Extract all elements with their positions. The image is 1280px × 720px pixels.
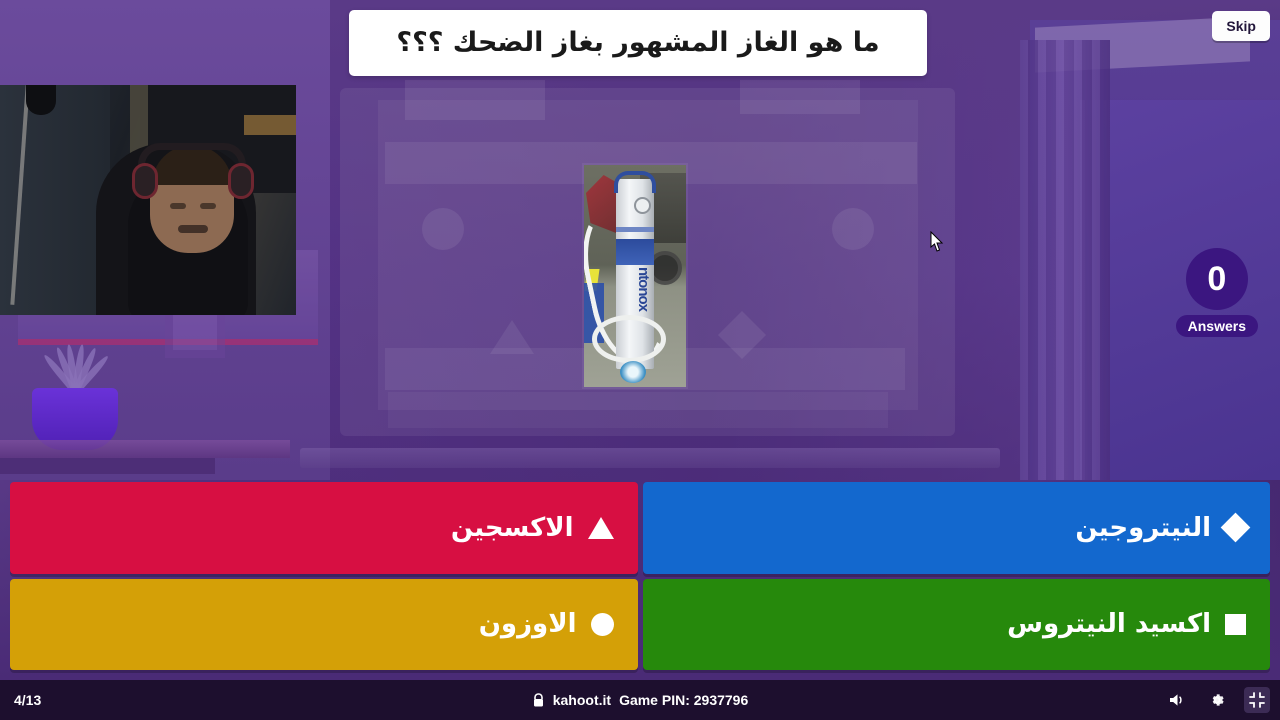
webcam-eye-right (200, 203, 216, 209)
webcam-shelf-item (244, 115, 296, 135)
skip-button[interactable]: Skip (1212, 11, 1270, 41)
fullscreen-button[interactable] (1244, 687, 1270, 713)
volume-icon (1168, 692, 1186, 708)
answer-tile-red[interactable]: الاكسجين (10, 482, 638, 574)
question-bar: ما هو الغاز المشهور بغاز الضحك ؟؟؟ (349, 10, 927, 76)
plant-leaves (38, 340, 112, 392)
webcam-overlay (0, 85, 296, 315)
decor-triangle (490, 320, 534, 354)
question-text: ما هو الغاز المشهور بغاز الضحك ؟؟؟ (396, 27, 879, 59)
answers-count: 0 (1186, 248, 1248, 310)
whiteboard-strip-bottom (388, 392, 888, 428)
circle-icon (591, 613, 614, 636)
volume-button[interactable] (1164, 687, 1190, 713)
answer-text-red: الاكسجين (451, 513, 574, 543)
answers-grid: الاكسجين النيتروجين الاوزون اكسيد النيتر… (10, 482, 1270, 670)
answers-counter: 0 Answers (1176, 248, 1258, 337)
webcam-eye-left (170, 203, 186, 209)
footer-game-info: kahoot.it Game PIN: 2937796 (0, 692, 1280, 708)
footer-site: kahoot.it (553, 692, 611, 708)
webcam-headphone-cup-right (228, 163, 254, 199)
answer-text-blue: النيتروجين (1075, 513, 1211, 543)
answer-tile-yellow[interactable]: الاوزون (10, 579, 638, 671)
webcam-plant (130, 85, 148, 155)
diamond-icon (1221, 513, 1251, 543)
mouse-cursor (930, 231, 946, 255)
curtain (1020, 40, 1110, 480)
footer-bar: 4/13 kahoot.it Game PIN: 2937796 (0, 680, 1280, 720)
answer-text-yellow: الاوزون (479, 609, 577, 639)
webcam-headphones-band (138, 143, 246, 165)
decor-circle (422, 208, 464, 250)
answer-tile-green[interactable]: اكسيد النيتروس (643, 579, 1271, 671)
square-icon (1225, 614, 1246, 635)
gear-icon (1208, 691, 1226, 709)
footer-controls (1164, 687, 1270, 713)
webcam-headphone-cup-left (132, 163, 158, 199)
webcam-mic (26, 85, 56, 115)
webcam-curtain (0, 85, 110, 315)
table (300, 448, 1000, 468)
question-media-image: ntonox (584, 165, 686, 387)
answer-text-green: اكسيد النيتروس (1007, 609, 1211, 639)
answers-label: Answers (1176, 315, 1258, 337)
decor-circle (832, 208, 874, 250)
decor-rect (740, 80, 860, 114)
webcam-moustache (178, 225, 208, 233)
exit-fullscreen-icon (1248, 691, 1266, 709)
decor-rect (405, 80, 545, 120)
shelf-lower (0, 458, 215, 474)
lock-icon (532, 693, 545, 708)
settings-button[interactable] (1204, 687, 1230, 713)
answer-tile-blue[interactable]: النيتروجين (643, 482, 1271, 574)
footer-game-pin: Game PIN: 2937796 (619, 692, 748, 708)
triangle-icon (588, 517, 614, 539)
shelf (0, 440, 290, 458)
